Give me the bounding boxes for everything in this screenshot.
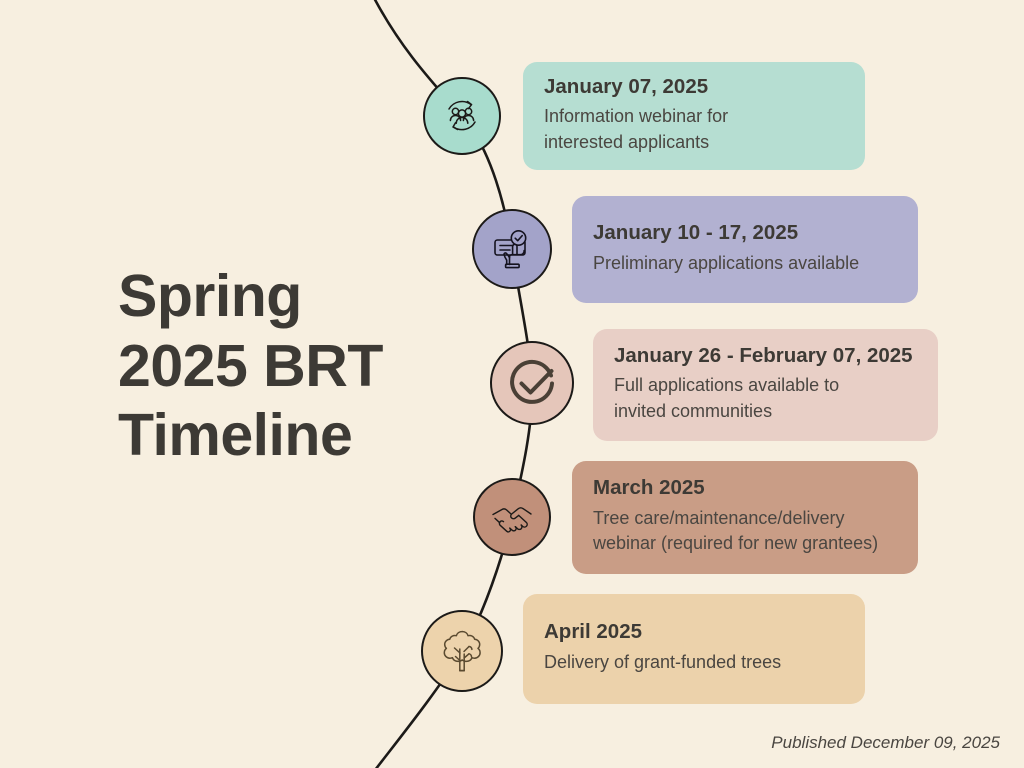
timeline-card-4-description: Tree care/maintenance/delivery webinar (… [593,506,898,557]
form-check-hand-icon [486,223,538,275]
timeline-card-1-description: Information webinar for interested appli… [544,104,845,155]
timeline-card-5[interactable]: April 2025 Delivery of grant-funded tree… [523,594,865,704]
timeline-card-2-description: Preliminary applications available [593,251,898,277]
timeline-card-1[interactable]: January 07, 2025 Information webinar for… [523,62,865,170]
timeline-card-2-date: January 10 - 17, 2025 [593,221,898,246]
timeline-card-3[interactable]: January 26 - February 07, 2025 Full appl… [593,329,938,441]
timeline-card-4-date: March 2025 [593,476,898,501]
timeline-card-5-description: Delivery of grant-funded trees [544,650,845,676]
handshake-icon [485,490,539,544]
page-title: Spring 2025 BRT Timeline [118,262,448,471]
tree-icon [434,623,490,679]
timeline-card-3-date: January 26 - February 07, 2025 [614,344,918,369]
timeline-marker-5[interactable] [421,610,503,692]
timeline-marker-4[interactable] [473,478,551,556]
check-circle-icon [504,355,560,411]
community-people-cycle-icon [437,91,487,141]
timeline-card-1-date: January 07, 2025 [544,75,845,100]
timeline-card-2[interactable]: January 10 - 17, 2025 Preliminary applic… [572,196,918,303]
published-date: Published December 09, 2025 [771,733,1000,753]
timeline-card-3-description: Full applications available to invited c… [614,373,918,424]
timeline-card-5-date: April 2025 [544,620,845,645]
timeline-infographic: Spring 2025 BRT Timeline January 07, 202… [0,0,1024,768]
timeline-marker-1[interactable] [423,77,501,155]
timeline-marker-3[interactable] [490,341,574,425]
timeline-card-4[interactable]: March 2025 Tree care/maintenance/deliver… [572,461,918,574]
timeline-marker-2[interactable] [472,209,552,289]
